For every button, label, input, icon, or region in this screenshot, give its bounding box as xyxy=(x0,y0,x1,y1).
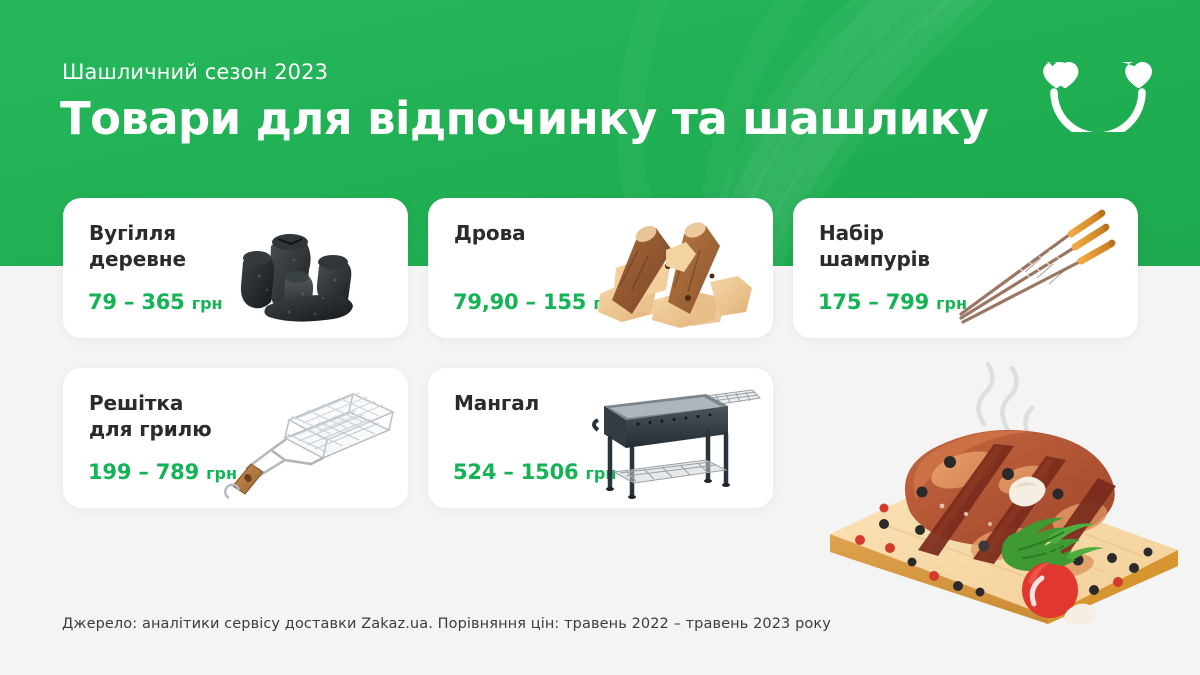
card-title-line1: Дрова xyxy=(454,221,526,245)
firewood-logs-icon xyxy=(580,206,765,330)
charcoal-lumps-icon xyxy=(215,206,400,330)
card-title-line1: Решітка xyxy=(89,391,183,415)
infographic-canvas: Шашличний сезон 2023 Товари для відпочин… xyxy=(0,0,1200,675)
grill-grate-icon xyxy=(215,376,400,500)
product-card-skewers[interactable]: Набір шампурів 175 – 799 грн xyxy=(793,198,1138,338)
product-card-brazier[interactable]: Мангал 524 – 1506 грн xyxy=(428,368,773,508)
card-title-line1: Набір xyxy=(819,221,884,245)
card-title-line1: Вугілля xyxy=(89,221,176,245)
source-note: Джерело: аналітики сервісу доставки Zaka… xyxy=(62,616,831,632)
card-title-line2: для грилю xyxy=(89,417,212,441)
card-title-line2: шампурів xyxy=(819,247,930,271)
page-title: Товари для відпочинку та шашлику xyxy=(60,92,988,146)
card-price-range: 199 – 789 xyxy=(88,460,199,484)
bbq-brazier-icon xyxy=(580,376,765,500)
card-price-range: 79,90 – 155 xyxy=(453,290,586,314)
card-price-range: 79 – 365 xyxy=(88,290,185,314)
skewers-set-icon xyxy=(945,206,1130,330)
grilled-steak-illustration xyxy=(812,352,1194,624)
card-price-range: 175 – 799 xyxy=(818,290,929,314)
product-card-firewood[interactable]: Дрова 79,90 – 155 грн xyxy=(428,198,773,338)
card-price: 79 – 365 грн xyxy=(88,290,223,314)
product-card-grill-grate[interactable]: Решітка для грилю 199 – 789 грн xyxy=(63,368,408,508)
zakaz-smiley-logo xyxy=(1041,58,1161,132)
card-price-range: 524 – 1506 xyxy=(453,460,578,484)
eyebrow-text: Шашличний сезон 2023 xyxy=(62,60,328,84)
card-title-line1: Мангал xyxy=(454,391,539,415)
card-title-line2: деревне xyxy=(89,247,186,271)
product-card-charcoal[interactable]: Вугілля деревне 79 – 365 грн xyxy=(63,198,408,338)
